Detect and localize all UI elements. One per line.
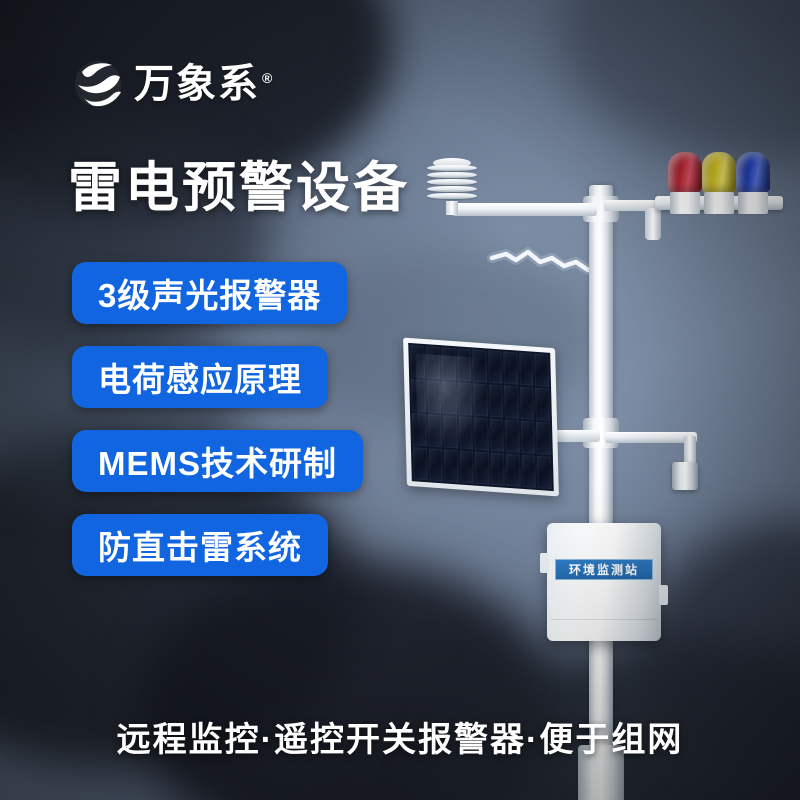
brand-logo: 万象系® [72, 58, 274, 110]
page-title: 雷电预警设备 [68, 160, 410, 217]
brand-name: 万象系® [134, 64, 274, 104]
product-promo-image: 环境监测站 万象系® 雷电预警设备 3级声光报警器 电荷感应原理 MEMS技术研… [0, 0, 800, 800]
feature-pill-3: MEMS技术研制 [72, 430, 363, 492]
feature-pill-list: 3级声光报警器 电荷感应原理 MEMS技术研制 防直击雷系统 [72, 262, 363, 576]
feature-pill-4: 防直击雷系统 [72, 514, 328, 576]
footer-tagline: 远程监控·遥控开关报警器·便于组网 [0, 712, 800, 761]
feature-pill-1: 3级声光报警器 [72, 262, 347, 324]
swoosh-sphere-logo-icon [72, 58, 124, 110]
registered-trademark-icon: ® [262, 70, 274, 86]
feature-pill-2: 电荷感应原理 [72, 346, 328, 408]
